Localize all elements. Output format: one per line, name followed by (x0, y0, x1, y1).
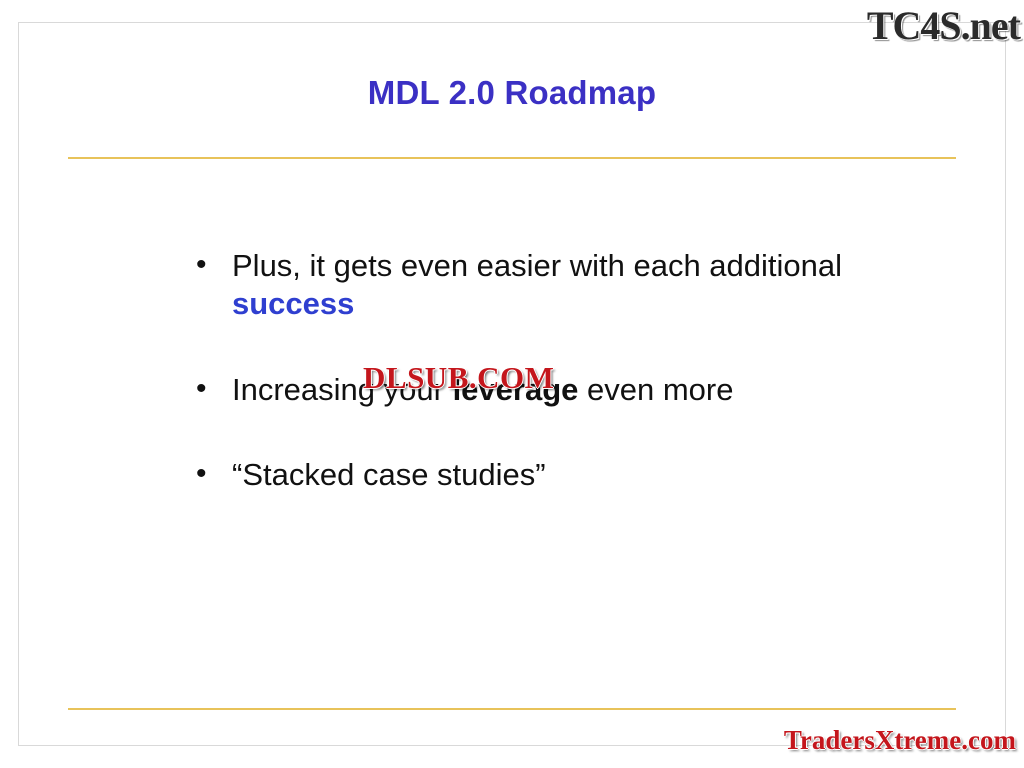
watermark-bottom-right: TradersXtreme.com (784, 725, 1016, 756)
slide-canvas: TC4S.net MDL 2.0 Roadmap • Plus, it gets… (0, 0, 1024, 768)
list-item-tail: even more (578, 372, 733, 407)
spacer-two (196, 408, 916, 456)
list-item: • Plus, it gets even easier with each ad… (196, 247, 916, 323)
list-item-accent: success (232, 286, 354, 321)
divider-top (68, 157, 956, 159)
bullet-marker-icon: • (196, 247, 232, 284)
list-item-text: Increasing your leverage even more (232, 371, 892, 409)
bullet-list: • Plus, it gets even easier with each ad… (196, 247, 916, 494)
list-item: • Increasing your leverage even more (196, 371, 916, 409)
list-item-text: Plus, it gets even easier with each addi… (232, 247, 892, 323)
bullet-marker-icon: • (196, 456, 232, 493)
page-title: MDL 2.0 Roadmap (0, 74, 1024, 112)
watermark-center: DLSUB.COM (363, 360, 554, 396)
list-item-text: “Stacked case studies” (232, 456, 892, 494)
bullet-marker-icon: • (196, 371, 232, 408)
divider-bottom (68, 708, 956, 710)
list-item: • “Stacked case studies” (196, 456, 916, 494)
watermark-top-right: TC4S.net (867, 2, 1020, 49)
spacer-one (196, 323, 916, 371)
list-item-lead: Plus, it gets even easier with each addi… (232, 248, 842, 283)
list-item-lead: “Stacked case studies” (232, 457, 546, 492)
